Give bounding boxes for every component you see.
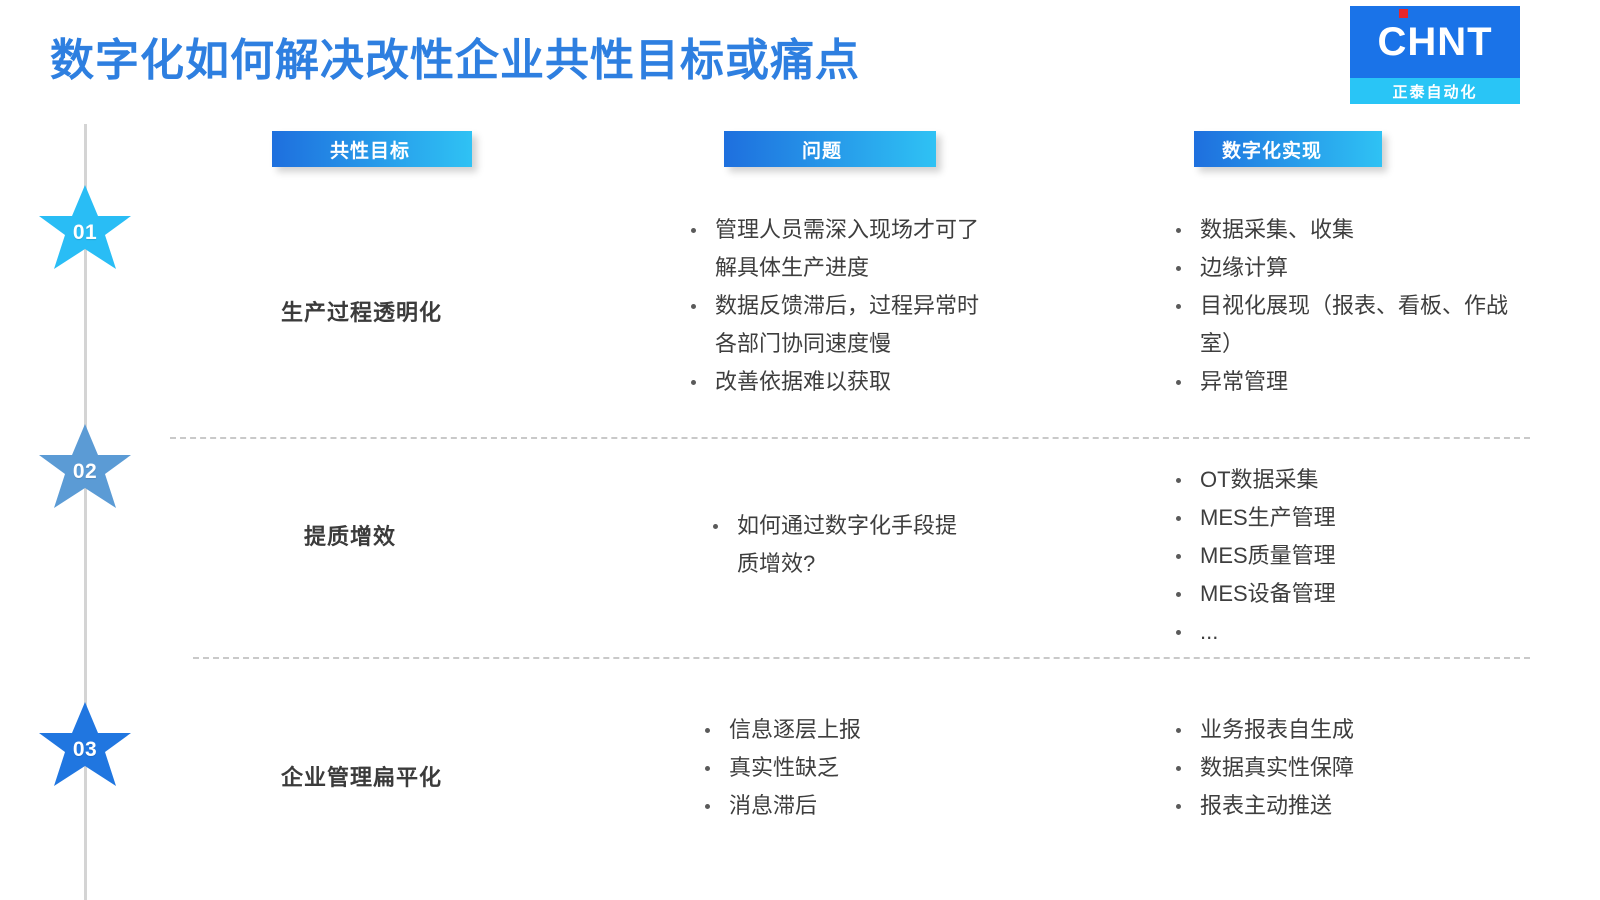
goal-label-row-03: 企业管理扁平化: [281, 760, 442, 792]
list-item: 业务报表自生成: [1168, 711, 1528, 749]
column-header-digital: 数字化实现: [1194, 131, 1382, 167]
logo-brand-text: CHNT: [1377, 20, 1492, 65]
timeline-star-01-number: 01: [73, 221, 97, 245]
list-item: 异常管理: [1168, 363, 1528, 401]
list-item: 管理人员需深入现场才可了解具体生产进度: [683, 211, 983, 287]
column-header-problem: 问题: [724, 131, 936, 167]
logo-brand-block: CHNT: [1350, 6, 1520, 78]
list-item: 消息滞后: [697, 787, 997, 825]
column-header-problem-label: 问题: [802, 136, 842, 163]
logo-subbrand-text: 正泰自动化: [1350, 78, 1520, 104]
problem-list-row-02: 如何通过数字化手段提质增效?: [705, 507, 975, 583]
list-item: ...: [1168, 613, 1528, 651]
list-item: 边缘计算: [1168, 249, 1528, 287]
list-item: 目视化展现（报表、看板、作战室）: [1168, 287, 1528, 363]
list-item: 数据采集、收集: [1168, 211, 1528, 249]
goal-label-row-01: 生产过程透明化: [281, 295, 442, 327]
timeline-star-03: 03: [35, 700, 135, 800]
list-item: 真实性缺乏: [697, 749, 997, 787]
list-item: 改善依据难以获取: [683, 363, 983, 401]
column-header-goal-label: 共性目标: [330, 136, 410, 163]
logo-red-dot-icon: [1399, 9, 1408, 18]
list-item: MES设备管理: [1168, 575, 1528, 613]
list-item: MES生产管理: [1168, 499, 1528, 537]
list-item: 报表主动推送: [1168, 787, 1528, 825]
page-title: 数字化如何解决改性企业共性目标或痛点: [50, 24, 860, 88]
timeline-star-01: 01: [35, 183, 135, 283]
company-logo: CHNT 正泰自动化: [1350, 6, 1520, 104]
slide-root: 数字化如何解决改性企业共性目标或痛点 CHNT 正泰自动化 共性目标 问题 数字…: [0, 0, 1600, 900]
digital-list-row-03: 业务报表自生成数据真实性保障报表主动推送: [1168, 711, 1528, 825]
list-item: 如何通过数字化手段提质增效?: [705, 507, 975, 583]
problem-list-row-03: 信息逐层上报真实性缺乏消息滞后: [697, 711, 997, 825]
column-header-goal: 共性目标: [272, 131, 472, 167]
timeline-star-02: 02: [35, 422, 135, 522]
timeline-star-03-number: 03: [73, 738, 97, 762]
timeline-star-02-number: 02: [73, 460, 97, 484]
list-item: 数据真实性保障: [1168, 749, 1528, 787]
goal-label-row-02: 提质增效: [304, 519, 396, 551]
column-header-digital-label: 数字化实现: [1222, 136, 1322, 163]
list-item: MES质量管理: [1168, 537, 1528, 575]
digital-list-row-01: 数据采集、收集边缘计算目视化展现（报表、看板、作战室）异常管理: [1168, 211, 1528, 401]
row-divider: [170, 437, 1530, 439]
digital-list-row-02: OT数据采集MES生产管理MES质量管理MES设备管理...: [1168, 461, 1528, 651]
list-item: OT数据采集: [1168, 461, 1528, 499]
row-divider: [193, 657, 1530, 659]
problem-list-row-01: 管理人员需深入现场才可了解具体生产进度数据反馈滞后，过程异常时各部门协同速度慢改…: [683, 211, 983, 401]
list-item: 数据反馈滞后，过程异常时各部门协同速度慢: [683, 287, 983, 363]
list-item: 信息逐层上报: [697, 711, 997, 749]
